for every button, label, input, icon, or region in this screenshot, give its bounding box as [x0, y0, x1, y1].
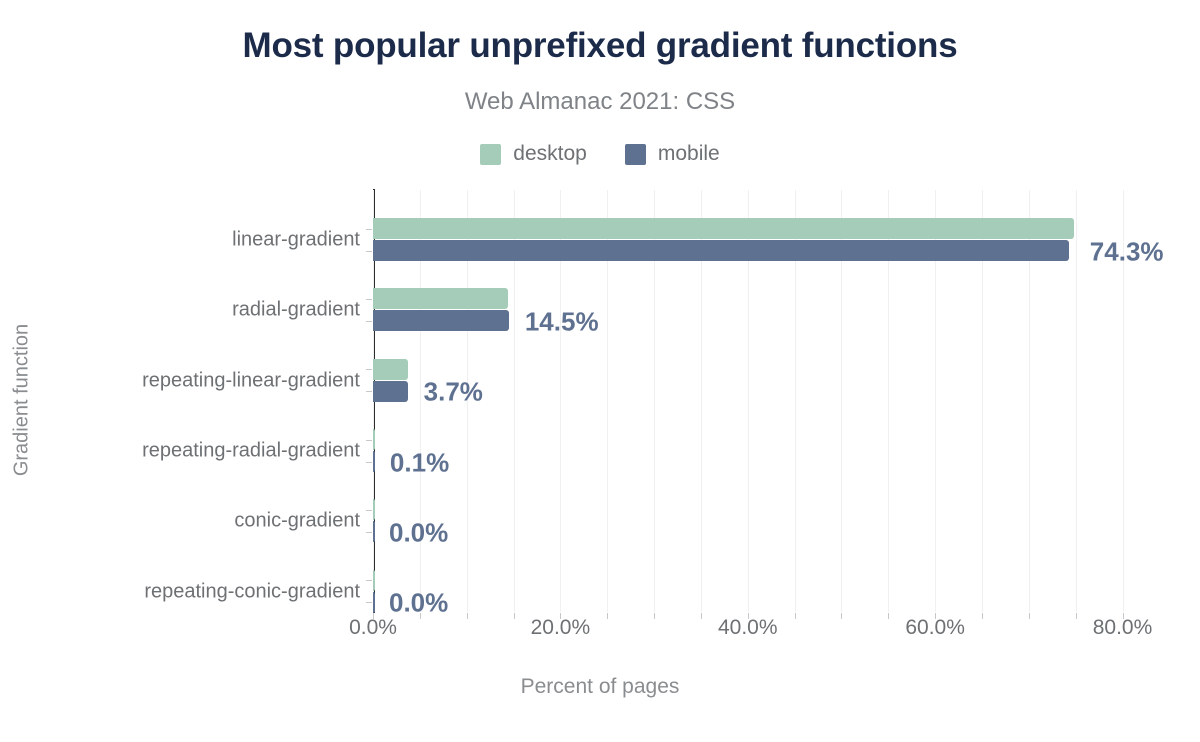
y-tick-mark: [366, 321, 372, 322]
x-tick-mark: [841, 613, 842, 619]
bar-value-label-repeating-linear-gradient: 3.7%: [424, 377, 483, 408]
bar-desktop-repeating-conic-gradient[interactable]: [373, 570, 375, 591]
bar-value-label-radial-gradient: 14.5%: [525, 306, 599, 337]
y-tick-mark: [366, 251, 372, 252]
x-tick-mark: [888, 613, 889, 619]
x-tick-mark: [701, 613, 702, 619]
x-tick-label-0: 0.0%: [349, 616, 397, 640]
bar-mobile-repeating-radial-gradient[interactable]: [373, 451, 375, 472]
x-axis-tick-labels: 0.0%20.0%40.0%60.0%80.0%: [0, 616, 1200, 656]
y-tick-mark: [366, 462, 372, 463]
x-tick-label-40: 40.0%: [718, 616, 778, 640]
y-tick-mark: [366, 602, 372, 603]
bar-mobile-repeating-linear-gradient[interactable]: [373, 381, 408, 402]
x-tick-mark: [982, 613, 983, 619]
x-tick-mark: [420, 613, 421, 619]
y-tick-mark: [366, 229, 372, 230]
bar-desktop-conic-gradient[interactable]: [373, 499, 375, 520]
x-tick-label-60: 60.0%: [905, 616, 965, 640]
y-tick-mark: [366, 369, 372, 370]
bar-value-label-repeating-radial-gradient: 0.1%: [390, 447, 449, 478]
y-tick-mark: [366, 510, 372, 511]
x-tick-mark: [935, 613, 936, 619]
bar-chart: Most popular unprefixed gradient functio…: [0, 0, 1200, 742]
y-tick-mark: [366, 532, 372, 533]
x-tick-mark: [748, 613, 749, 619]
bar-desktop-repeating-radial-gradient[interactable]: [373, 429, 375, 450]
y-tick-mark: [366, 299, 372, 300]
x-tick-label-80: 80.0%: [1093, 616, 1153, 640]
bar-value-label-linear-gradient: 74.3%: [1090, 236, 1164, 267]
x-tick-mark: [1123, 613, 1124, 619]
y-axis-title: Gradient function: [11, 324, 34, 476]
bar-mobile-radial-gradient[interactable]: [373, 310, 509, 331]
y-tick-mark: [366, 391, 372, 392]
bar-mobile-repeating-conic-gradient[interactable]: [373, 592, 375, 613]
x-tick-mark: [654, 613, 655, 619]
bar-desktop-linear-gradient[interactable]: [373, 218, 1074, 239]
bar-value-label-conic-gradient: 0.0%: [389, 517, 448, 548]
x-tick-mark: [607, 613, 608, 619]
y-tick-mark: [366, 440, 372, 441]
x-tick-mark: [1029, 613, 1030, 619]
x-tick-mark: [795, 613, 796, 619]
bar-desktop-radial-gradient[interactable]: [373, 288, 508, 309]
bar-value-label-repeating-conic-gradient: 0.0%: [389, 588, 448, 619]
bar-mobile-linear-gradient[interactable]: [373, 240, 1069, 261]
x-tick-mark: [467, 613, 468, 619]
x-tick-mark: [1076, 613, 1077, 619]
x-tick-mark: [373, 613, 374, 619]
x-tick-mark: [560, 613, 561, 619]
x-tick-label-20: 20.0%: [531, 616, 591, 640]
x-axis-title: Percent of pages: [0, 675, 1200, 699]
bar-desktop-repeating-linear-gradient[interactable]: [373, 359, 408, 380]
x-tick-mark: [514, 613, 515, 619]
y-tick-mark: [366, 580, 372, 581]
bar-mobile-conic-gradient[interactable]: [373, 521, 375, 542]
